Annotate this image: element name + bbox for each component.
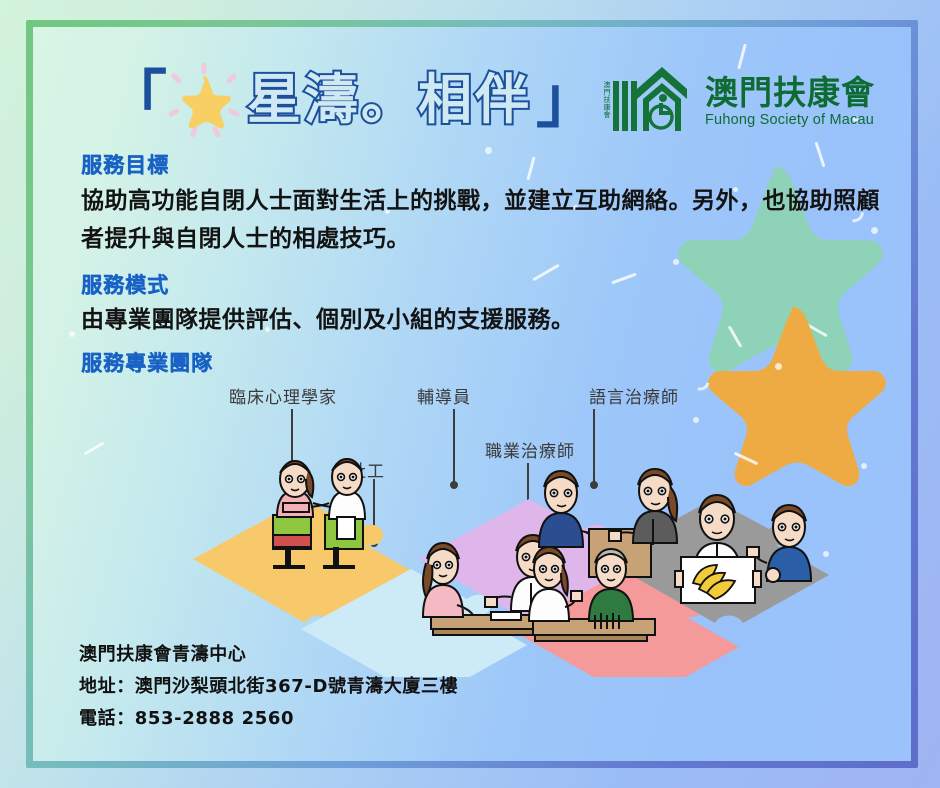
decorative-tick <box>532 264 559 282</box>
title-close-bracket: 」 <box>536 69 598 131</box>
decorative-tick <box>526 157 535 181</box>
decorative-dot <box>485 147 492 154</box>
fuhong-logo: 澳門扶康會 <box>602 65 875 131</box>
puzzle-board-graphic <box>33 367 911 677</box>
logo-wordmark: 澳門扶康會 Fuhong Society of Macau <box>705 76 875 131</box>
title-open-bracket: 「 <box>105 69 167 131</box>
decorative-dot <box>69 331 75 337</box>
section-body-mode: 由專業團隊提供評估、個別及小組的支援服務。 <box>81 301 881 339</box>
contact-footer: 澳門扶康會青濤中心 地址：澳門沙梨頭北街367-D號青濤大廈三樓 電話：853-… <box>79 639 458 735</box>
yellow-star-sparkle-icon <box>167 63 241 137</box>
logo-name-cn: 澳門扶康會 <box>705 76 875 109</box>
section-heading-mode: 服務模式 <box>81 269 169 299</box>
decorative-dot <box>673 259 679 265</box>
team-illustration: 臨床心理學家 社工 輔導員 職業治療師 語言治療師 <box>33 367 911 677</box>
footer-address: 地址：澳門沙梨頭北街367-D號青濤大廈三樓 <box>79 671 458 703</box>
section-body-goal: 協助高功能自閉人士面對生活上的挑戰，並建立互助網絡。另外，也協助照顧者提升與自閉… <box>81 182 881 258</box>
poster-canvas: 「 <box>33 27 911 761</box>
decorative-tick <box>611 273 636 285</box>
footer-center-name: 澳門扶康會青濤中心 <box>79 639 458 671</box>
poster-root: 「 <box>0 0 940 788</box>
logo-vertical-cn: 澳門扶康會 <box>603 81 611 119</box>
logo-vertical-text: 澳門扶康會 <box>602 69 611 131</box>
logo-name-en: Fuhong Society of Macau <box>705 112 875 129</box>
footer-phone: 電話：853-2888 2560 <box>79 703 458 735</box>
house-wheelchair-logo-icon <box>613 65 699 131</box>
poster-frame: 「 <box>26 20 918 768</box>
title-main-text: 星濤。相伴 <box>247 73 532 127</box>
poster-header: 「 <box>33 27 911 147</box>
section-heading-goal: 服務目標 <box>81 149 169 179</box>
poster-title: 「 <box>105 63 598 137</box>
